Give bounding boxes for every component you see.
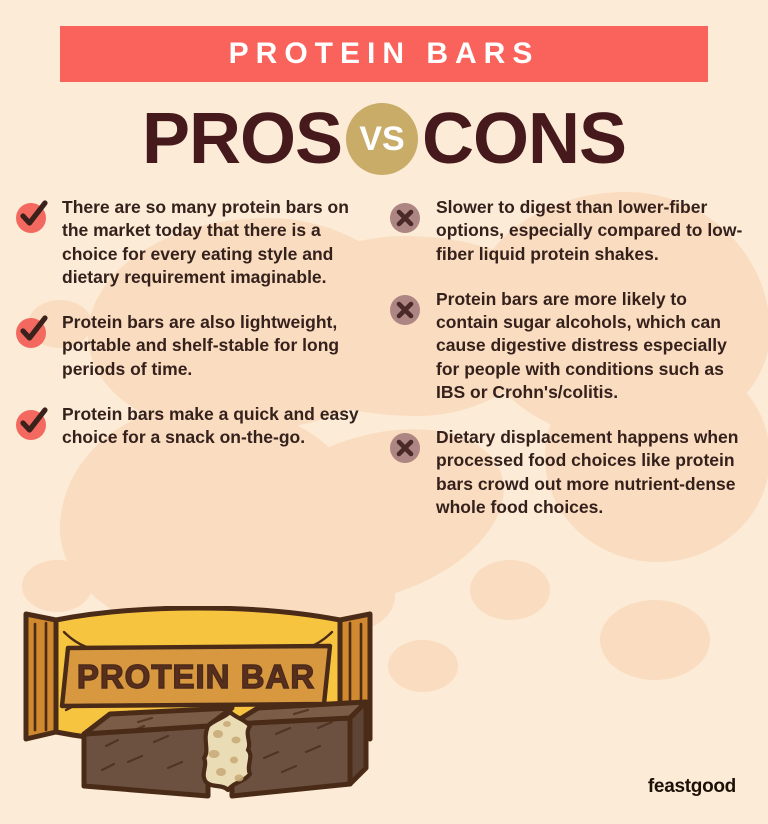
pros-item-icon — [16, 196, 62, 199]
cons-item-text: Slower to digest than lower-fiber option… — [436, 196, 754, 266]
cons-item-icon — [390, 426, 436, 429]
background-blob — [22, 560, 92, 612]
header-banner: PROTEIN BARS — [60, 26, 708, 82]
vs-badge-label: VS — [359, 122, 404, 156]
vs-badge: VS — [346, 103, 418, 175]
content-columns: There are so many protein bars on the ma… — [0, 196, 768, 541]
pros-item: There are so many protein bars on the ma… — [16, 196, 370, 289]
infographic-page: PROTEIN BARS PROS VS CONS There are — [0, 0, 768, 824]
cons-item-text: Dietary displacement happens when proces… — [436, 426, 754, 519]
background-blob — [388, 640, 458, 692]
pros-item-icon — [16, 403, 62, 406]
background-blob — [600, 600, 710, 680]
protein-bar-illustration: PROTEIN BAR — [18, 606, 378, 811]
feastgood-logo: feastgood — [648, 776, 736, 798]
cons-column: Slower to digest than lower-fiber option… — [384, 196, 768, 541]
header-banner-title: PROTEIN BARS — [229, 39, 540, 69]
pros-item-text: Protein bars make a quick and easy choic… — [62, 403, 370, 450]
pros-item-icon — [16, 311, 62, 314]
wrapper-label: PROTEIN BAR — [77, 658, 315, 695]
cons-item: Slower to digest than lower-fiber option… — [390, 196, 754, 266]
pros-column: There are so many protein bars on the ma… — [0, 196, 384, 541]
title-cons: CONS — [422, 103, 626, 175]
title-pros: PROS — [142, 103, 342, 175]
pros-item: Protein bars are also lightweight, porta… — [16, 311, 370, 381]
cons-item: Dietary displacement happens when proces… — [390, 426, 754, 519]
cons-item-icon — [390, 196, 436, 199]
background-blob — [470, 560, 550, 620]
pros-item-text: There are so many protein bars on the ma… — [62, 196, 370, 289]
cons-item: Protein bars are more likely to contain … — [390, 288, 754, 404]
pros-item: Protein bars make a quick and easy choic… — [16, 403, 370, 450]
page-title: PROS VS CONS — [0, 98, 768, 180]
cons-item-icon — [390, 288, 436, 291]
cons-item-text: Protein bars are more likely to contain … — [436, 288, 754, 404]
pros-item-text: Protein bars are also lightweight, porta… — [62, 311, 370, 381]
